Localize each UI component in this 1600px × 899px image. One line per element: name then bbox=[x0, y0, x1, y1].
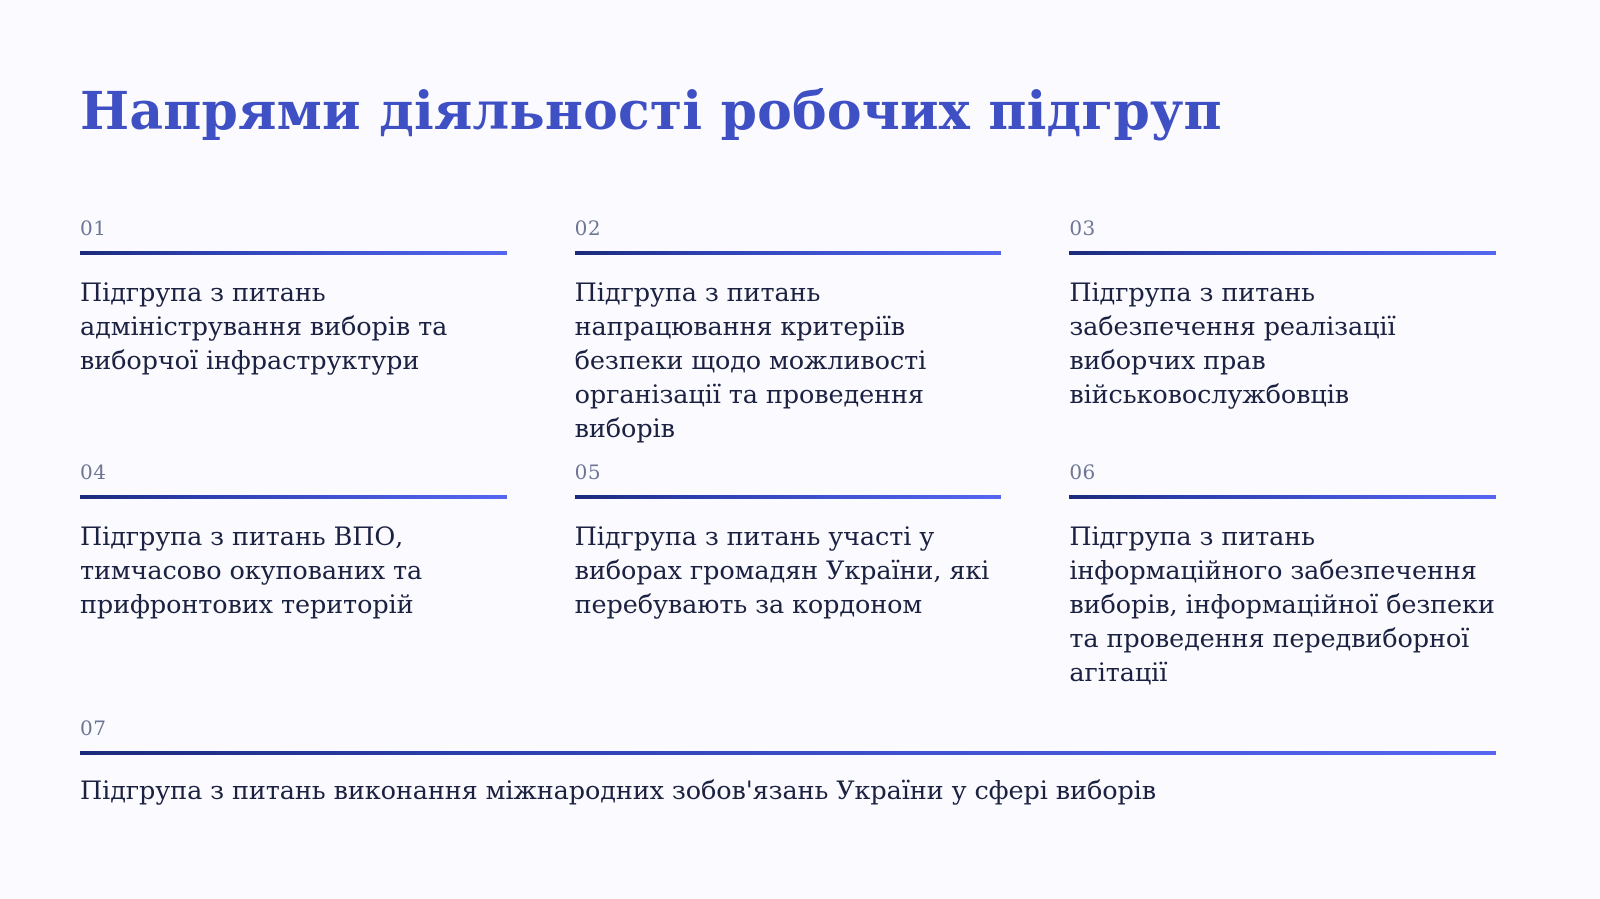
subgroup-divider-04 bbox=[80, 495, 507, 499]
subgroup-divider-03 bbox=[1069, 251, 1496, 255]
subgroup-number-07: 07 bbox=[80, 718, 1496, 751]
slide-root: Напрями діяльності робочих підгруп 01 Пі… bbox=[0, 0, 1600, 899]
subgroup-number-04: 04 bbox=[80, 462, 507, 495]
subgroup-label-04: Підгрупа з питань ВПО, тимчасово окупова… bbox=[80, 521, 507, 623]
subgroup-card-06: 06 Підгрупа з питань інформаційного забе… bbox=[1069, 462, 1496, 706]
subgroup-number-06: 06 bbox=[1069, 462, 1496, 495]
subgroup-label-06: Підгрупа з питань інформаційного забезпе… bbox=[1069, 521, 1496, 691]
subgroup-label-05: Підгрупа з питань участі у виборах грома… bbox=[575, 521, 1002, 623]
page-title: Напрями діяльності робочих підгруп bbox=[80, 83, 1222, 141]
subgroup-label-02: Підгрупа з питань напрацювання критеріїв… bbox=[575, 277, 1002, 447]
subgroup-number-01: 01 bbox=[80, 218, 507, 251]
subgroup-divider-06 bbox=[1069, 495, 1496, 499]
subgroup-divider-05 bbox=[575, 495, 1002, 499]
subgroup-number-03: 03 bbox=[1069, 218, 1496, 251]
subgroup-number-02: 02 bbox=[575, 218, 1002, 251]
subgroup-number-05: 05 bbox=[575, 462, 1002, 495]
subgroup-card-01: 01 Підгрупа з питань адміністрування виб… bbox=[80, 218, 507, 462]
subgroup-card-02: 02 Підгрупа з питань напрацювання критер… bbox=[575, 218, 1002, 462]
subgroup-card-05: 05 Підгрупа з питань участі у виборах гр… bbox=[575, 462, 1002, 706]
subgroups-grid: 01 Підгрупа з питань адміністрування виб… bbox=[80, 218, 1496, 809]
subgroup-label-01: Підгрупа з питань адміністрування виборі… bbox=[80, 277, 507, 379]
subgroup-divider-02 bbox=[575, 251, 1002, 255]
subgroup-card-03: 03 Підгрупа з питань забезпечення реаліз… bbox=[1069, 218, 1496, 462]
subgroup-label-03: Підгрупа з питань забезпечення реалізаці… bbox=[1069, 277, 1496, 413]
subgroup-divider-07 bbox=[80, 751, 1496, 755]
subgroup-card-04: 04 Підгрупа з питань ВПО, тимчасово окуп… bbox=[80, 462, 507, 706]
subgroup-divider-01 bbox=[80, 251, 507, 255]
subgroup-card-07: 07 Підгрупа з питань виконання міжнародн… bbox=[80, 718, 1496, 809]
subgroup-label-07: Підгрупа з питань виконання міжнародних … bbox=[80, 775, 1496, 809]
